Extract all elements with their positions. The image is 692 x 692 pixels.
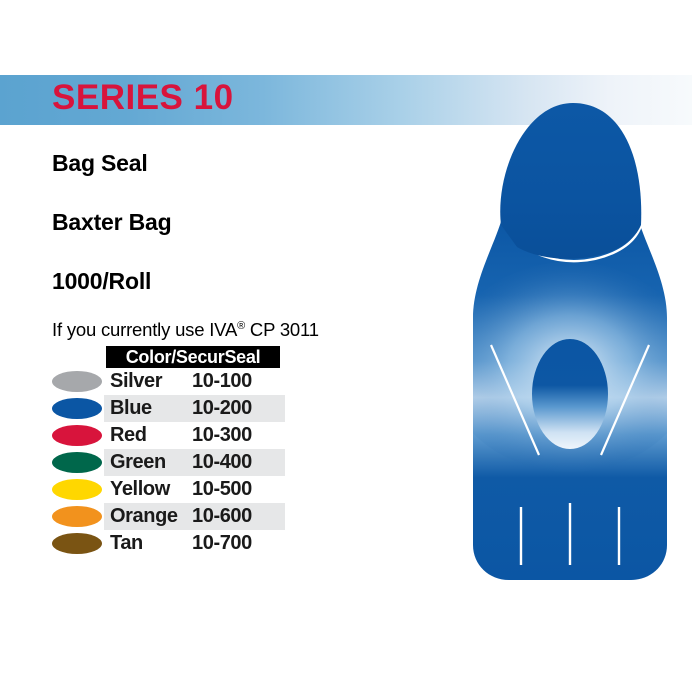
product-quantity: 1000/Roll [52,268,151,295]
table-row[interactable]: Green 10-400 [0,449,320,476]
table-row[interactable]: Red 10-300 [0,422,320,449]
yellow-swatch [52,479,102,500]
bag-window [532,339,608,449]
table-row[interactable]: Tan 10-700 [0,530,320,557]
securseal-code: 10-300 [192,422,252,449]
page-title: SERIES 10 [52,78,234,118]
table-header-bar: Color/SecurSeal [106,346,280,368]
product-name: Bag Seal [52,150,148,177]
registered-trademark-icon: ® [237,320,245,332]
tan-swatch [52,533,102,554]
color-name: Orange [110,503,178,530]
table-row[interactable]: Yellow 10-500 [0,476,320,503]
securseal-code: 10-500 [192,476,252,503]
securseal-code: 10-400 [192,449,252,476]
color-name: Yellow [110,476,170,503]
cross-reference-note: If you currently use IVA® CP 3011 [52,319,319,341]
securseal-code: 10-600 [192,503,252,530]
orange-swatch [52,506,102,527]
table-row[interactable]: Blue 10-200 [0,395,320,422]
blue-swatch [52,398,102,419]
securseal-code: 10-200 [192,395,252,422]
securseal-code: 10-700 [192,530,252,557]
table-row[interactable]: Silver 10-100 [0,368,320,395]
product-application: Baxter Bag [52,209,171,236]
cross-reference-prefix: If you currently use IVA [52,319,237,340]
securseal-code: 10-100 [192,368,252,395]
silver-swatch [52,371,102,392]
bag-cap [500,103,641,259]
cross-reference-suffix: CP 3011 [245,319,319,340]
color-name: Silver [110,368,162,395]
color-name: Green [110,449,166,476]
red-swatch [52,425,102,446]
table-header-label: Color/SecurSeal [106,346,280,368]
color-name: Red [110,422,147,449]
series-10-product-sheet: SERIES 10 Bag Seal Baxter Bag 1000/Roll … [0,0,692,692]
color-name: Blue [110,395,152,422]
green-swatch [52,452,102,473]
table-row[interactable]: Orange 10-600 [0,503,320,530]
color-name: Tan [110,530,143,557]
baxter-bag-illustration [455,95,685,590]
